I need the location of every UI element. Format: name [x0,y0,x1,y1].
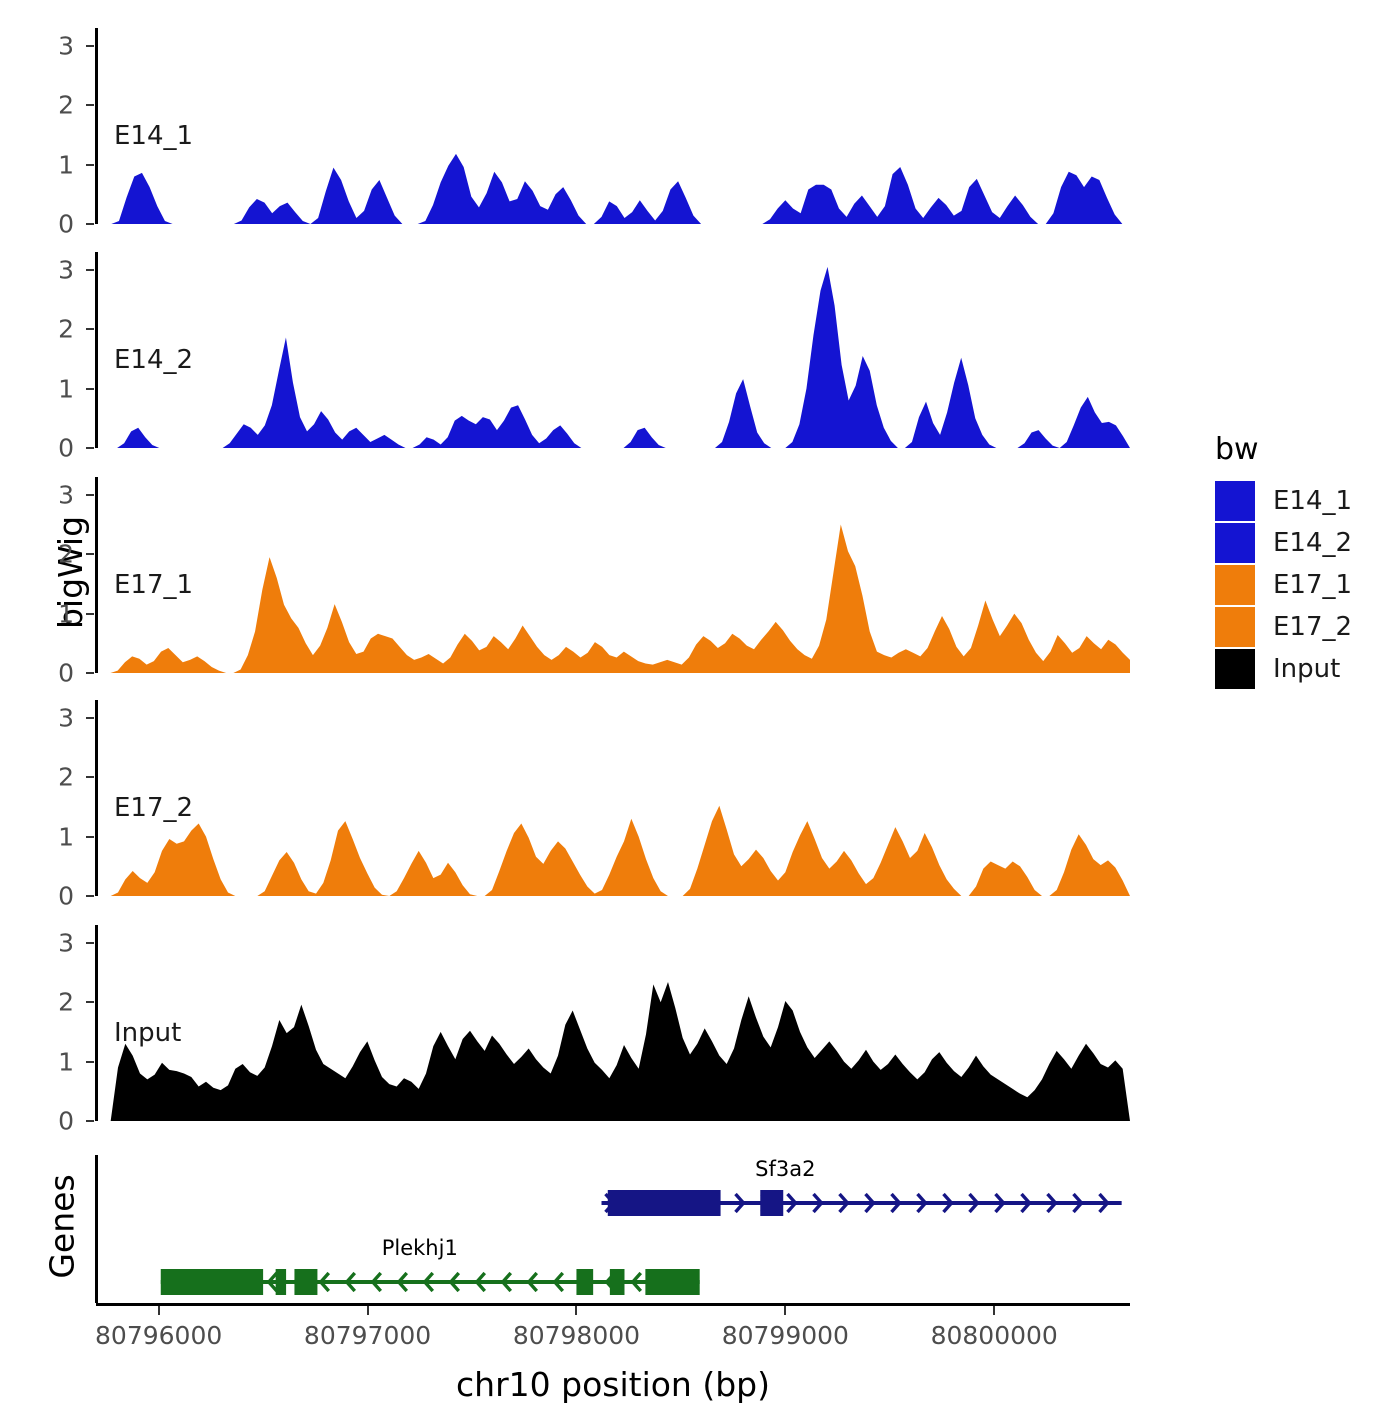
signal-track-E17_2 [96,700,1132,898]
y-tick-E14_1-1 [86,164,94,166]
x-axis-line [96,1303,1130,1306]
y-tick-E14_2-0 [86,447,94,449]
y-tick-E17_2-2 [86,776,94,778]
y-tick-E17_2-0 [86,895,94,897]
legend-swatch-E17_1 [1215,565,1255,605]
y-tick-E14_1-0 [86,223,94,225]
y-tick-E17_1-2 [86,553,94,555]
signal-track-Input [96,925,1132,1123]
y-tick-Input-1 [86,1061,94,1063]
y-tick-E17_1-1 [86,613,94,615]
legend-item-Input[interactable]: Input [1215,649,1352,689]
y-tick-E14_2-2 [86,328,94,330]
y-tick-label-Input-0: 0 [34,1107,74,1136]
y-tick-label-E17_2-3: 3 [34,703,74,732]
legend-label-E17_2: E17_2 [1273,612,1352,642]
y-tick-label-Input-1: 1 [34,1047,74,1076]
legend-title: bw [1215,432,1352,467]
y-tick-label-E14_2-2: 2 [34,315,74,344]
legend: bwE14_1E14_2E17_1E17_2Input [1215,432,1352,691]
legend-label-E17_1: E17_1 [1273,570,1352,600]
y-tick-label-E17_2-2: 2 [34,763,74,792]
legend-swatch-E14_1 [1215,481,1255,521]
legend-label-E14_1: E14_1 [1273,486,1352,516]
y-tick-E17_2-3 [86,717,94,719]
x-tick-80799000 [784,1306,786,1315]
legend-item-E14_1[interactable]: E14_1 [1215,481,1352,521]
y-tick-label-E14_2-1: 1 [34,374,74,403]
y-tick-E17_2-1 [86,836,94,838]
y-tick-label-E17_1-3: 3 [34,480,74,509]
legend-swatch-E17_2 [1215,607,1255,647]
y-tick-label-E17_1-1: 1 [34,599,74,628]
x-tick-80798000 [575,1306,577,1315]
y-tick-label-E17_2-0: 0 [34,882,74,911]
gene-sf3a2[interactable] [602,1190,1122,1216]
y-tick-E17_1-3 [86,494,94,496]
y-tick-E14_2-3 [86,269,94,271]
gene-annotation-track [0,1155,1400,1303]
legend-swatch-E14_2 [1215,523,1255,563]
y-tick-Input-0 [86,1120,94,1122]
x-axis-title: chr10 position (bp) [456,1365,770,1404]
x-tick-label-80799000: 80799000 [722,1321,849,1350]
y-tick-E14_1-3 [86,45,94,47]
y-tick-label-Input-3: 3 [34,928,74,957]
y-tick-label-E14_1-3: 3 [34,31,74,60]
legend-swatch-Input [1215,649,1255,689]
y-tick-label-E14_2-3: 3 [34,255,74,284]
y-tick-label-Input-2: 2 [34,988,74,1017]
y-tick-Input-3 [86,942,94,944]
x-tick-80797000 [367,1306,369,1315]
gene-label-sf3a2: Sf3a2 [755,1157,815,1181]
y-tick-label-E14_1-1: 1 [34,150,74,179]
signal-track-E14_2 [96,252,1132,450]
genome-browser-figure: bigWigGenes0123E14_10123E14_20123E17_101… [0,0,1400,1400]
y-tick-E14_2-1 [86,388,94,390]
signal-track-E14_1 [96,28,1132,226]
x-tick-label-80800000: 80800000 [931,1321,1058,1350]
legend-item-E17_2[interactable]: E17_2 [1215,607,1352,647]
legend-item-E17_1[interactable]: E17_1 [1215,565,1352,605]
legend-label-Input: Input [1273,654,1340,684]
y-tick-label-E17_1-0: 0 [34,659,74,688]
signal-track-E17_1 [96,477,1132,675]
x-tick-label-80796000: 80796000 [95,1321,222,1350]
y-tick-E14_1-2 [86,104,94,106]
x-tick-label-80797000: 80797000 [304,1321,431,1350]
gene-plekhj1[interactable] [161,1269,700,1295]
y-tick-label-E14_1-2: 2 [34,91,74,120]
x-tick-label-80798000: 80798000 [513,1321,640,1350]
x-tick-80800000 [993,1306,995,1315]
y-tick-label-E17_2-1: 1 [34,822,74,851]
legend-item-E14_2[interactable]: E14_2 [1215,523,1352,563]
gene-label-plekhj1: Plekhj1 [382,1236,458,1260]
y-tick-E17_1-0 [86,672,94,674]
y-tick-label-E14_1-0: 0 [34,210,74,239]
legend-label-E14_2: E14_2 [1273,528,1352,558]
x-tick-80796000 [158,1306,160,1315]
y-tick-label-E14_2-0: 0 [34,434,74,463]
y-tick-Input-2 [86,1001,94,1003]
y-tick-label-E17_1-2: 2 [34,540,74,569]
